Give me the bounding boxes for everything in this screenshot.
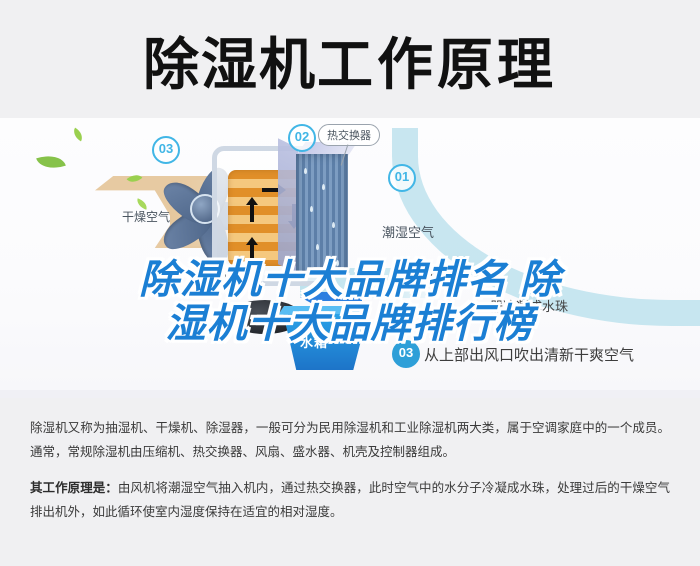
water-droplet <box>310 206 313 212</box>
overlay-line-1: 除湿机十大品牌排名 除 <box>0 258 700 302</box>
step-label-humid-air: 潮湿空气 <box>382 222 434 241</box>
infographic-page: 除湿机工作原理 <box>0 0 700 566</box>
step-badge-02: 02 <box>288 124 316 152</box>
step-badge-01: 01 <box>388 164 416 192</box>
step-label-heat-exchanger: 热交换器 <box>318 124 380 146</box>
dehumidifier-diagram: 水箱 压缩机 03 干燥空气 02 热交换器 01 潮湿空气 潮湿 器冷凝成水珠… <box>0 118 700 390</box>
water-droplet <box>332 222 335 228</box>
step-badge-03: 03 <box>152 136 180 164</box>
step-label-dry-air: 干燥空气 <box>122 208 170 225</box>
page-title: 除湿机工作原理 <box>0 33 700 97</box>
overlay-line-2: 湿机十大品牌排行榜 <box>0 302 700 346</box>
title-part-one: 除湿机 <box>143 33 317 96</box>
flow-arrow-up-icon <box>250 204 254 222</box>
paragraph-principle: 其工作原理是：由风机将潮湿空气抽入机内，通过热交换器，此时空气中的水分子冷凝成水… <box>30 476 670 524</box>
paragraph-principle-body: 由风机将潮湿空气抽入机内，通过热交换器，此时空气中的水分子冷凝成水珠，处理过后的… <box>30 481 670 519</box>
overlay-headline: 除湿机十大品牌排名 除 湿机十大品牌排行榜 <box>0 258 700 346</box>
flow-arrow-right-icon <box>262 188 278 192</box>
paragraph-principle-label: 其工作原理是： <box>30 481 118 495</box>
water-droplet <box>322 184 325 190</box>
bullet-text-03: 从上部出风口吹出清新干爽空气 <box>424 344 634 365</box>
water-droplet <box>316 244 319 250</box>
water-droplet <box>304 168 307 174</box>
paragraph-definition: 除湿机又称为抽湿机、干燥机、除湿器，一般可分为民用除湿机和工业除湿机两大类，属于… <box>30 416 670 464</box>
header-banner: 除湿机工作原理 <box>0 0 700 118</box>
leaf-icon <box>36 150 66 173</box>
title-part-two: 工作原理 <box>317 33 557 96</box>
article-body: 除湿机又称为抽湿机、干燥机、除湿器，一般可分为民用除湿机和工业除湿机两大类，属于… <box>0 398 700 566</box>
heat-exchanger-side-panel <box>278 138 298 274</box>
leaf-icon <box>71 128 86 142</box>
